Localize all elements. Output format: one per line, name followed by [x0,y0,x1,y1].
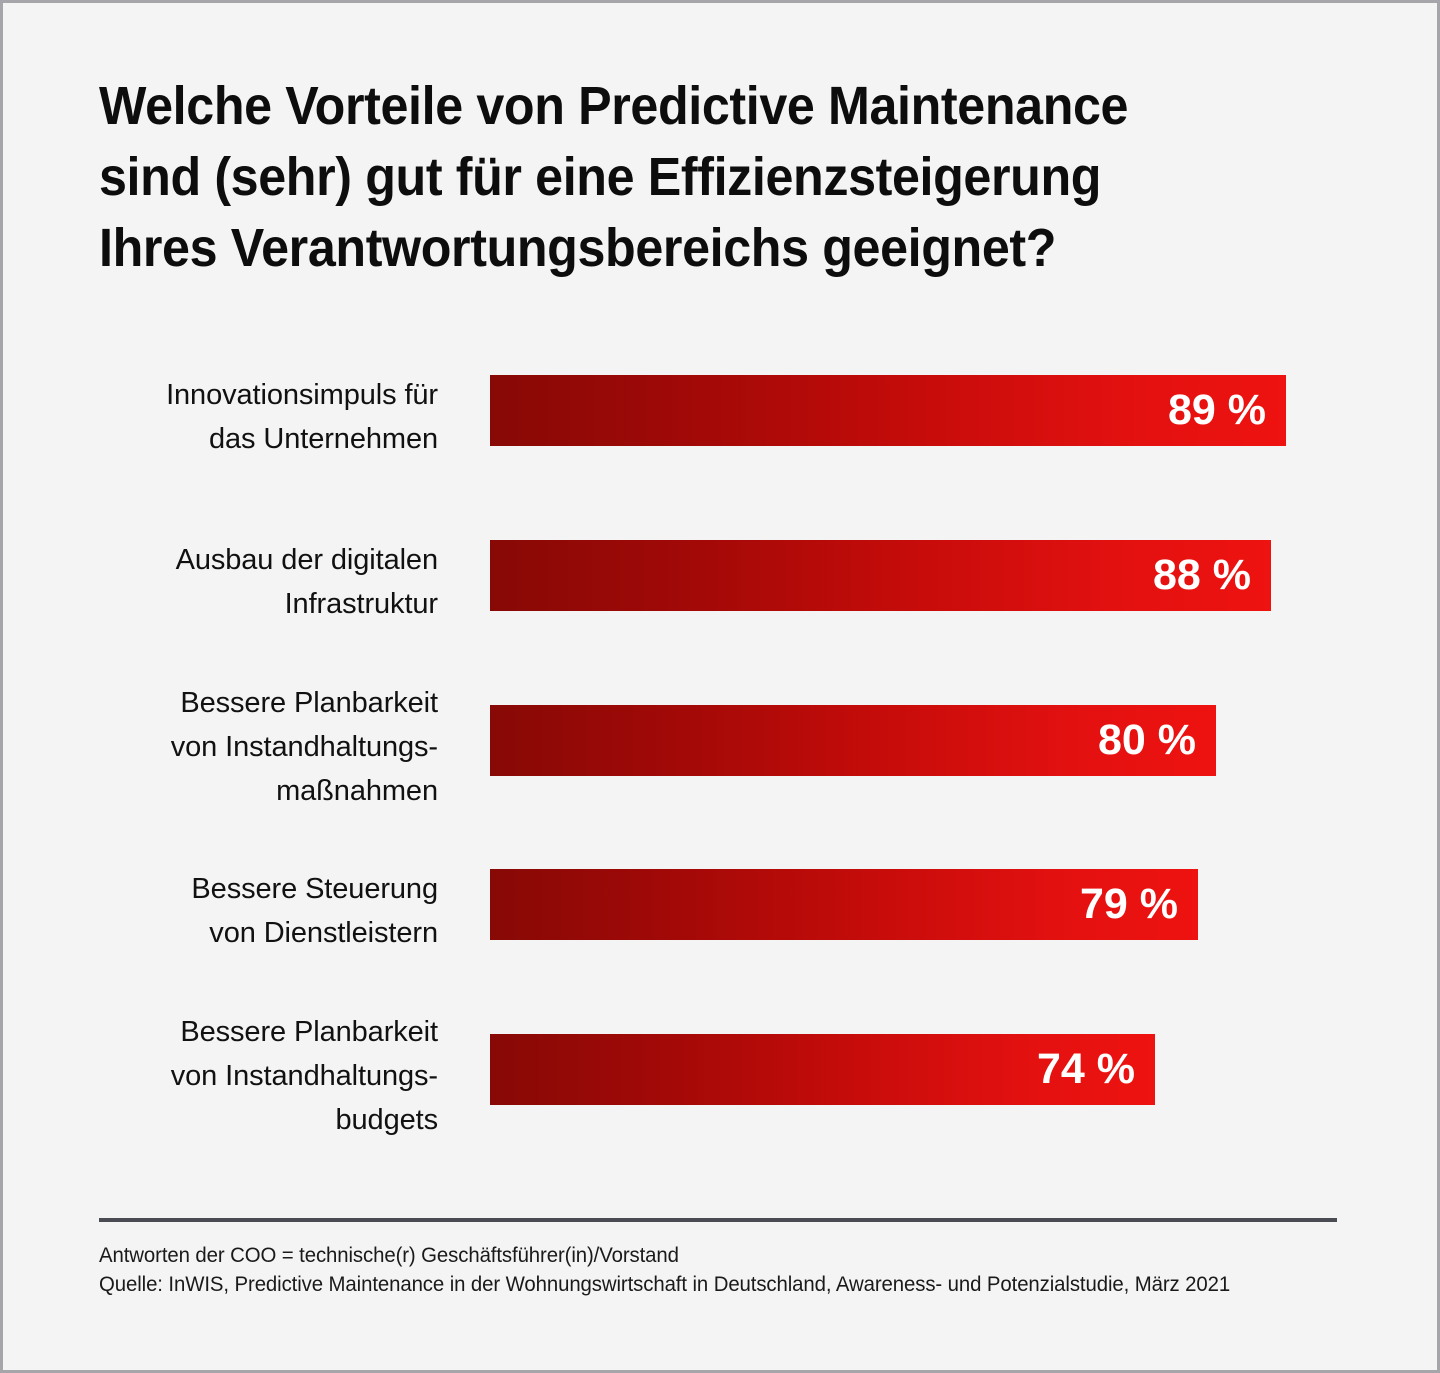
footer-note: Antworten der COO = technische(r) Geschä… [99,1241,1341,1299]
bar-track: 74 % [490,1034,1155,1105]
bar-value-label: 74 % [1037,1045,1155,1094]
bar-category-label: Bessere Planbarkeit von Instandhaltungs-… [38,681,438,813]
bar-fill: 79 % [490,869,1198,940]
bar-category-label: Ausbau der digitalen Infrastruktur [38,538,438,626]
bar-track: 89 % [490,375,1286,446]
bar-value-label: 88 % [1153,551,1271,600]
bar-track: 80 % [490,705,1216,776]
footer-note-line-1: Antworten der COO = technische(r) Geschä… [99,1241,1341,1270]
bar-value-label: 89 % [1168,386,1286,435]
plot-area: Innovationsimpuls für das Unternehmen 89… [3,3,1440,1373]
bar-fill: 88 % [490,540,1271,611]
bar-track: 79 % [490,869,1198,940]
bar-track: 88 % [490,540,1271,611]
footer-source-line: Quelle: InWIS, Predictive Maintenance in… [99,1270,1341,1299]
footer-divider [99,1218,1337,1222]
infographic-bar-chart: Welche Vorteile von Predictive Maintenan… [0,0,1440,1373]
bar-category-label: Innovationsimpuls für das Unternehmen [38,373,438,461]
bar-category-label: Bessere Planbarkeit von Instandhaltungs-… [38,1010,438,1142]
bar-value-label: 80 % [1098,716,1216,765]
bar-fill: 80 % [490,705,1216,776]
bar-value-label: 79 % [1080,880,1198,929]
bar-fill: 74 % [490,1034,1155,1105]
bar-category-label: Bessere Steuerung von Dienstleistern [38,867,438,955]
bar-fill: 89 % [490,375,1286,446]
